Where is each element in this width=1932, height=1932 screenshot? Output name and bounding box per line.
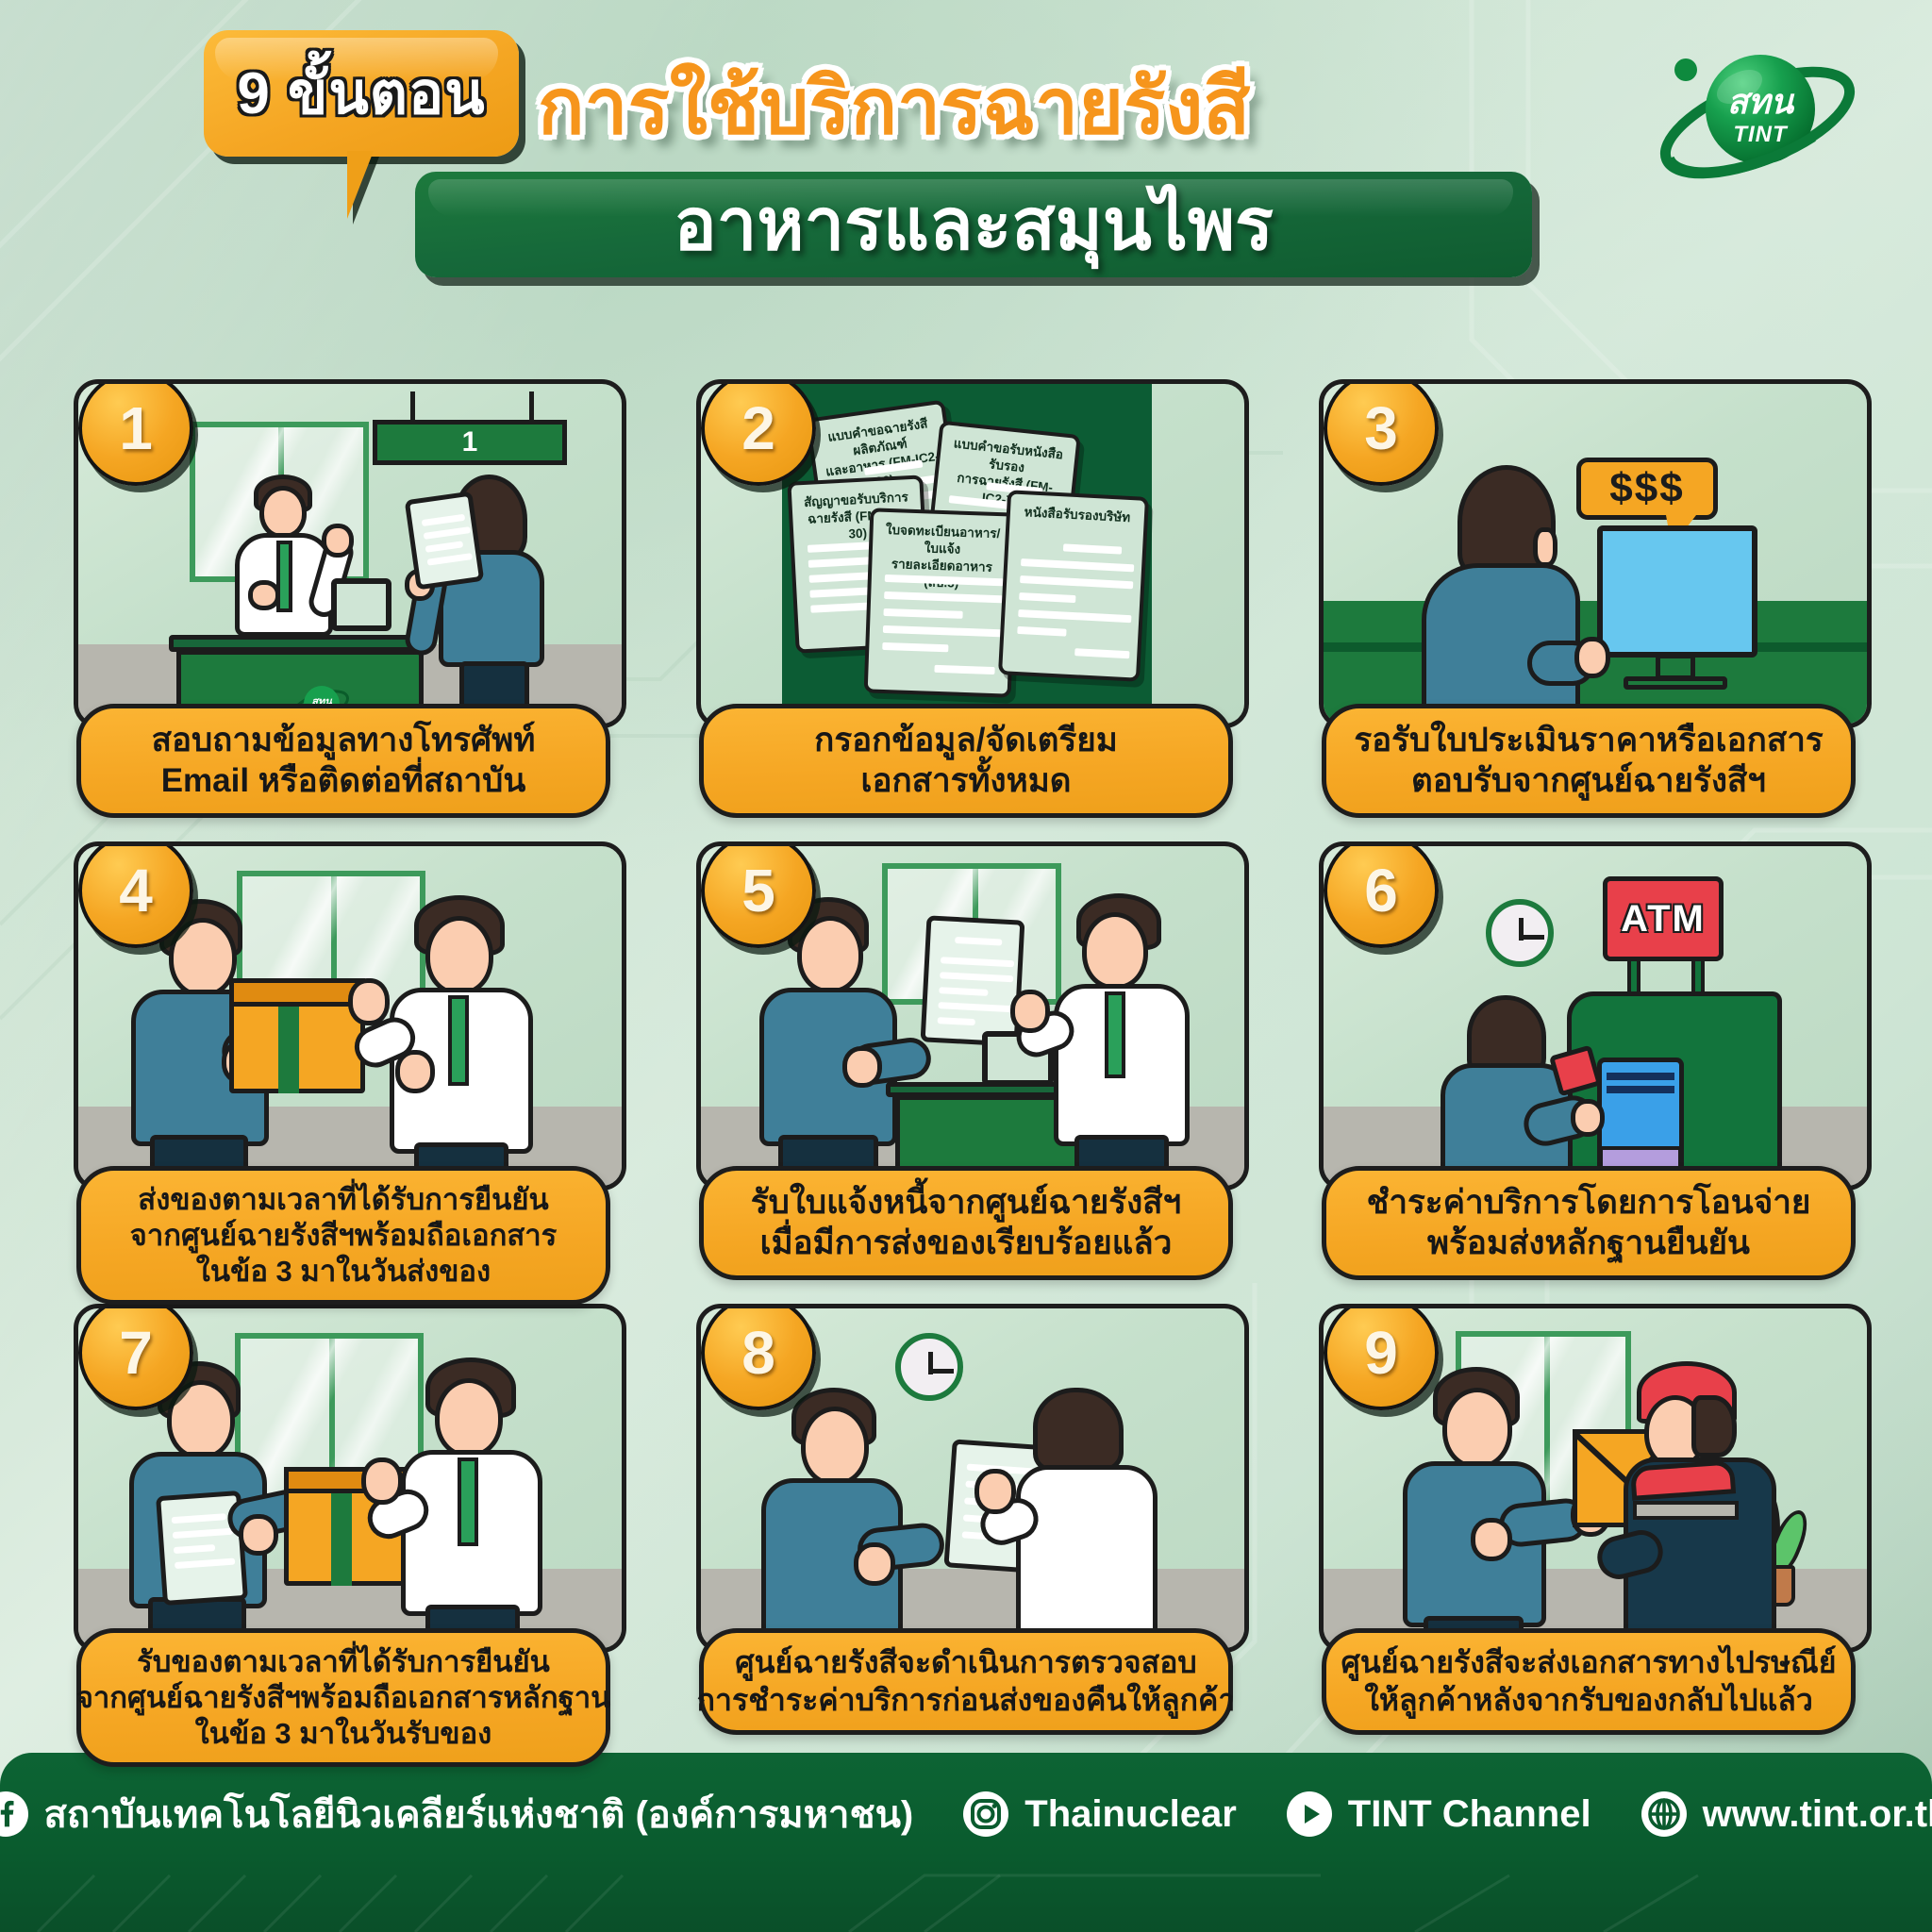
step-card-7[interactable]: 7 รับของตามเวลาที่ได้รับการยืนยัน จากศูน… <box>60 1304 626 1767</box>
officer-head <box>259 486 307 539</box>
person-ear <box>1533 527 1557 567</box>
step-caption-4: ส่งของตามเวลาที่ได้รับการยืนยัน จากศูนย์… <box>76 1166 610 1305</box>
footer-decorative-lines <box>0 1866 1932 1932</box>
atm-sign-post <box>1627 958 1641 995</box>
youtube-play-icon[interactable] <box>1286 1790 1333 1838</box>
step-caption-1: สอบถามข้อมูลทางโทรศัพท์ Email หรือติดต่อ… <box>76 704 610 818</box>
person-hand <box>1574 637 1610 678</box>
staff-head <box>1082 912 1148 990</box>
invoice-document <box>921 915 1025 1046</box>
staff-hand <box>348 978 390 1025</box>
person-hand <box>1571 1099 1605 1137</box>
step-illustration-4: 4 <box>74 841 626 1191</box>
atm-sign: ATM <box>1603 876 1724 961</box>
customer-hand <box>854 1542 895 1586</box>
step-illustration-6: ATM 6 <box>1319 841 1872 1191</box>
customer-head <box>1442 1388 1512 1469</box>
step-card-8[interactable]: 8 ศูนย์ฉายรังสีจะดำเนินการตรวจสอบ การชำร… <box>683 1304 1249 1735</box>
step-caption-3: รอรับใบประเมินราคาหรือเอกสาร ตอบรับจากศู… <box>1322 704 1856 818</box>
document-form: ใบจดทะเบียนอาหาร/ใบแจ้ง รายละเอียดอาหาร … <box>864 508 1018 697</box>
step-card-3[interactable]: $$$ 3 รอรับใบประเมินราคาหรือเอกสาร ตอบรั… <box>1306 379 1872 818</box>
customer-hand <box>1471 1518 1512 1561</box>
atm-sign-post <box>1691 958 1705 995</box>
wall-clock-icon <box>895 1333 963 1401</box>
subtitle-banner: อาหารและสมุนไพร <box>415 172 1532 277</box>
header: 9 ขั้นตอน การใช้บริการฉายรังสี อาหารและส… <box>0 0 1932 292</box>
step-caption-9: ศูนย์ฉายรังสีจะส่งเอกสารทางไปรษณีย์ ให้ล… <box>1322 1628 1856 1735</box>
price-bubble: $$$ <box>1576 458 1718 520</box>
officer-hand <box>248 580 280 610</box>
footer-bar: สถาบันเทคโนโลยีนิวเคลียร์แห่งชาติ (องค์ก… <box>0 1753 1932 1932</box>
customer-head <box>169 918 237 997</box>
postman-hair <box>1691 1395 1737 1457</box>
atm-screen-line <box>1607 1073 1674 1080</box>
instagram-icon[interactable] <box>962 1790 1009 1838</box>
staff-hand <box>974 1469 1016 1514</box>
staff-tie <box>448 995 469 1086</box>
step-badge-9: 9 <box>1324 1304 1439 1410</box>
held-document <box>405 491 485 590</box>
step-illustration-5: 5 <box>696 841 1249 1191</box>
step-card-4[interactable]: 4 ส่งของตามเวลาที่ได้รับการยืนยัน จากศูน… <box>60 841 626 1305</box>
step-card-6[interactable]: ATM 6 ชำระค่าบริการโดยการโอนจ่าย พร้อมส่… <box>1306 841 1872 1280</box>
staff-hair <box>1033 1388 1124 1473</box>
footer-item-facebook[interactable]: สถาบันเทคโนโลยีนิวเคลียร์แห่งชาติ (องค์ก… <box>0 1784 938 1844</box>
footer-item-youtube[interactable]: TINT Channel <box>1261 1790 1616 1838</box>
step-card-2[interactable]: แบบคำขอฉายรังสีผลิตภัณฑ์ และอาหาร (FM-IC… <box>683 379 1249 818</box>
staff-tie <box>1105 991 1125 1078</box>
step-illustration-1: 1 สทน TINT <box>74 379 626 728</box>
postman-belt-stripe <box>1633 1501 1739 1520</box>
footer-item-website[interactable]: www.tint.or.th <box>1616 1790 1932 1838</box>
gift-box-lid <box>229 978 365 1007</box>
step-illustration-9: 9 <box>1319 1304 1872 1653</box>
step-card-5[interactable]: 5 รับใบแจ้งหนี้จากศูนย์ฉายรังสีฯ เมื่อมี… <box>683 841 1249 1280</box>
step-count-bubble: 9 ขั้นตอน <box>204 30 519 157</box>
steps-grid: 1 สทน TINT <box>0 379 1932 1804</box>
customer-head <box>797 916 863 993</box>
page-title: การใช้บริการฉายรังสี <box>538 45 1250 168</box>
staff-hand <box>1010 990 1050 1033</box>
staff-head <box>435 1378 503 1457</box>
atm-screen-line <box>1607 1086 1674 1093</box>
staff-tie <box>458 1457 478 1546</box>
step-caption-5: รับใบแจ้งหนี้จากศูนย์ฉายรังสีฯ เมื่อมีกา… <box>699 1166 1233 1280</box>
wall-clock-icon <box>1486 899 1554 967</box>
logo-thai-text: สทน <box>1727 82 1795 121</box>
step-caption-7: รับของตามเวลาที่ได้รับการยืนยัน จากศูนย์… <box>76 1628 610 1767</box>
officer-hand <box>322 524 354 558</box>
step-caption-6: ชำระค่าบริการโดยการโอนจ่าย พร้อมส่งหลักฐ… <box>1322 1166 1856 1280</box>
step-caption-2: กรอกข้อมูล/จัดเตรียม เอกสารทั้งหมด <box>699 704 1233 818</box>
step-illustration-2: แบบคำขอฉายรังสีผลิตภัณฑ์ และอาหาร (FM-IC… <box>696 379 1249 728</box>
step-illustration-8: 8 <box>696 1304 1249 1653</box>
globe-icon[interactable] <box>1641 1790 1688 1838</box>
customer-head <box>801 1407 869 1486</box>
staff-hand <box>395 1050 435 1093</box>
subtitle-label: อาหารและสมุนไพร <box>415 172 1532 277</box>
footer-label-instagram: Thainuclear <box>1024 1793 1237 1836</box>
step-card-1[interactable]: 1 สทน TINT <box>60 379 626 818</box>
footer-label-website: www.tint.or.th <box>1703 1793 1932 1836</box>
counter-number-sign: 1 <box>373 420 567 465</box>
step-count-label: 9 ขั้นตอน <box>204 30 519 157</box>
step-badge-3: 3 <box>1324 379 1439 486</box>
step-illustration-3: $$$ 3 <box>1319 379 1872 728</box>
staff-hand <box>361 1457 403 1505</box>
step-badge-1: 1 <box>78 379 193 486</box>
tint-logo: สทน TINT <box>1649 36 1866 187</box>
step-badge-6: 6 <box>1324 841 1439 948</box>
computer-monitor <box>1597 525 1757 658</box>
monitor-base <box>1624 676 1727 690</box>
desk-monitor <box>331 578 391 631</box>
facebook-icon[interactable] <box>0 1790 29 1838</box>
footer-label-facebook: สถาบันเทคโนโลยีนิวเคลียร์แห่งชาติ (องค์ก… <box>44 1784 914 1844</box>
customer-hand <box>239 1514 278 1556</box>
postman-shoulder-stripe <box>1630 1459 1736 1501</box>
step-caption-8: ศูนย์ฉายรังสีจะดำเนินการตรวจสอบ การชำระค… <box>699 1628 1233 1735</box>
footer-links: สถาบันเทคโนโลยีนิวเคลียร์แห่งชาติ (องค์ก… <box>0 1762 1932 1866</box>
document-form: หนังสือรับรองบริษัท <box>998 490 1149 682</box>
footer-label-youtube: TINT Channel <box>1348 1793 1591 1836</box>
staff-shirt <box>1016 1465 1158 1653</box>
customer-hand <box>842 1046 882 1088</box>
footer-item-instagram[interactable]: Thainuclear <box>938 1790 1261 1838</box>
step-badge-8: 8 <box>701 1304 816 1410</box>
step-card-9[interactable]: 9 ศูนย์ฉายรังสีจะส่งเอกสารทางไปรษณีย์ ให… <box>1306 1304 1872 1735</box>
staff-head <box>425 916 493 995</box>
step-illustration-7: 7 <box>74 1304 626 1653</box>
logo-latin-text: TINT <box>1733 122 1789 147</box>
